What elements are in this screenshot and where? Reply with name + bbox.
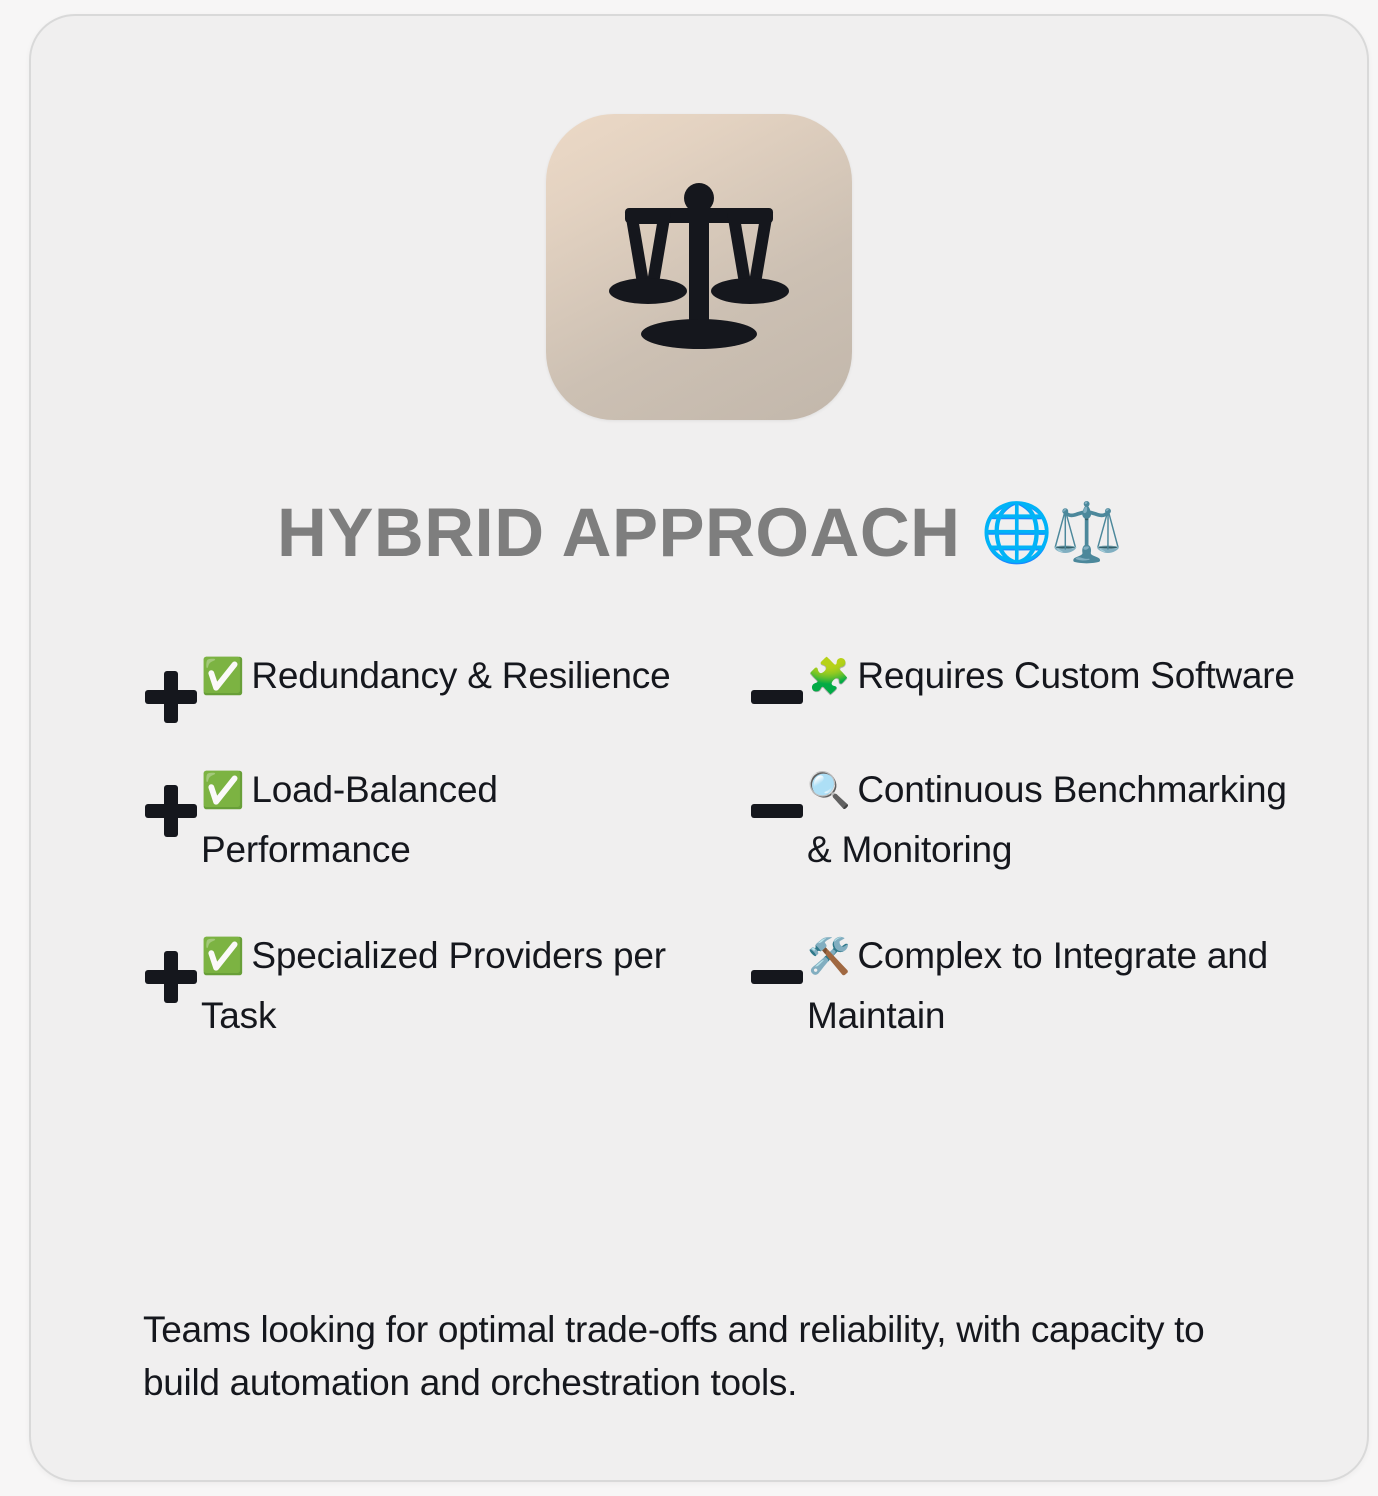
list-item: 🔍Continuous Benchmarking & Monitoring (721, 760, 1295, 880)
pro-item-text: ✅Specialized Providers per Task (201, 926, 689, 1046)
pro-item-text: ✅Load-Balanced Performance (201, 760, 689, 880)
hammer-and-wrench-icon: 🛠️ (807, 937, 850, 976)
plus-icon (115, 760, 201, 828)
minus-icon (721, 760, 807, 828)
check-mark-icon: ✅ (201, 657, 244, 696)
pro-item-label: Specialized Providers per Task (201, 935, 666, 1036)
plus-icon (115, 646, 201, 714)
list-item: ✅Load-Balanced Performance (115, 760, 689, 880)
minus-icon (721, 926, 807, 994)
summary-text: Teams looking for optimal trade-offs and… (143, 1304, 1271, 1409)
hybrid-approach-card: HYBRID APPROACH 🌐⚖️ ✅Redundancy & Resili… (29, 14, 1369, 1482)
globe-and-scale-icon: 🌐⚖️ (981, 504, 1121, 562)
list-item: ✅Specialized Providers per Task (115, 926, 689, 1046)
con-item-text: 🔍Continuous Benchmarking & Monitoring (807, 760, 1295, 880)
cons-column: 🧩Requires Custom Software 🔍Continuous Be… (705, 646, 1295, 1046)
con-item-label: Requires Custom Software (857, 655, 1294, 696)
con-item-label: Complex to Integrate and Maintain (807, 935, 1268, 1036)
app-icon-container (31, 114, 1367, 420)
list-item: ✅Redundancy & Resilience (115, 646, 689, 714)
list-item: 🧩Requires Custom Software (721, 646, 1295, 714)
con-item-text: 🛠️Complex to Integrate and Maintain (807, 926, 1295, 1046)
con-item-text: 🧩Requires Custom Software (807, 646, 1295, 706)
pro-item-label: Redundancy & Resilience (251, 655, 670, 696)
puzzle-piece-icon: 🧩 (807, 657, 850, 696)
list-item: 🛠️Complex to Integrate and Maintain (721, 926, 1295, 1046)
pro-item-label: Load-Balanced Performance (201, 769, 498, 870)
page-title: HYBRID APPROACH 🌐⚖️ (31, 498, 1367, 567)
features-columns: ✅Redundancy & Resilience ✅Load-Balanced … (115, 646, 1295, 1046)
con-item-label: Continuous Benchmarking & Monitoring (807, 769, 1287, 870)
magnifying-glass-icon: 🔍 (807, 771, 850, 810)
pro-item-text: ✅Redundancy & Resilience (201, 646, 689, 706)
check-mark-icon: ✅ (201, 771, 244, 810)
check-mark-icon: ✅ (201, 937, 244, 976)
balance-scale-icon (546, 114, 852, 420)
minus-icon (721, 646, 807, 714)
plus-icon (115, 926, 201, 994)
pros-column: ✅Redundancy & Resilience ✅Load-Balanced … (115, 646, 705, 1046)
page-title-text: HYBRID APPROACH (277, 498, 960, 567)
